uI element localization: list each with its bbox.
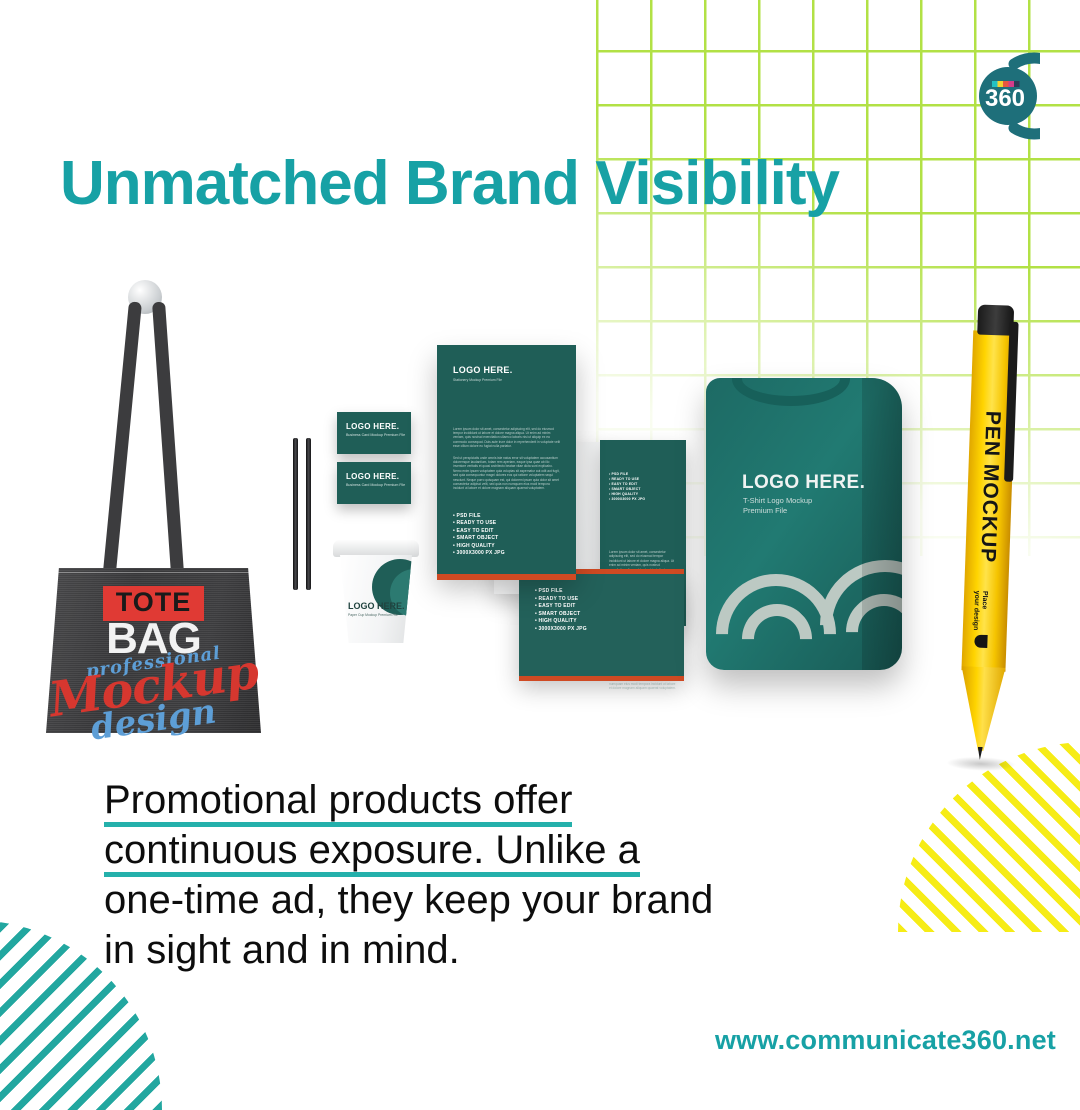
letterhead-subtext: Stationery Mockup Premium File [453,378,576,383]
body-line-3: one-time ad, they keep your brand [104,875,864,925]
pen-mockup: PEN MOCKUP Place your design [952,304,1024,776]
poster-canvas: 360 Unmatched Brand Visibility TOTE BAG … [0,0,1080,1080]
doc-bottom-stripe-gap [575,676,627,681]
business-card-logo: LOGO HERE. [346,422,411,431]
cup-body: LOGO HERE. Paper Cup Mockup Premium File [340,555,412,643]
tote-handle-left [102,301,142,581]
letterhead-feature: SMART OBJECT [453,535,576,542]
website-url[interactable]: www.communicate360.net [715,1025,1056,1056]
tote-handle-right [152,302,185,582]
body-line-4: in sight and in mind. [104,925,864,975]
doc-right-feature-list: PSD FILE READY TO USE EASY TO EDIT SMART… [609,472,686,502]
tote-bag-mockup: TOTE BAG professional Mockup design [36,280,276,730]
tshirt-subtext-line1: T-Shirt Logo Mockup [743,496,812,506]
body-line-2: continuous exposure. Unlike a [104,825,640,875]
tshirt-logo: LOGO HERE. [742,472,865,494]
tshirt-mockup: LOGO HERE. T-Shirt Logo Mockup Premium F… [706,378,902,670]
business-card-logo-2: LOGO HERE. [346,472,411,481]
letterhead-feature-list: PSD FILE READY TO USE EASY TO EDIT SMART… [453,513,576,557]
doc-bottom-feature: PSD FILE [535,588,684,596]
letterhead-stripe-gap [483,574,529,580]
letterhead-feature: EASY TO EDIT [453,528,576,535]
letterhead-logo: LOGO HERE. [453,365,576,375]
cup-lid [333,540,419,557]
doc-bottom-feature-list: PSD FILE READY TO USE EASY TO EDIT SMART… [535,588,684,634]
business-card-subtext-2: Business Card Mockup Premium File [346,483,411,488]
pencil-one [293,438,298,590]
cup-subtext: Paper Cup Mockup Premium File [348,613,398,618]
tshirt-fold-shadow [862,378,902,670]
teal-document-bottom: PSD FILE READY TO USE EASY TO EDIT SMART… [519,574,684,676]
business-card-front: LOGO HERE. Business Card Mockup Premium … [337,412,411,454]
tshirt-subtext: T-Shirt Logo Mockup Premium File [743,496,812,516]
letterhead-feature: HIGH QUALITY [453,543,576,550]
letterhead-feature: READY TO USE [453,520,576,527]
doc-bottom-feature: READY TO USE [535,596,684,604]
page-title: Unmatched Brand Visibility [60,148,839,219]
doc-bottom-feature: HIGH QUALITY [535,618,684,626]
cup-logo: LOGO HERE. [348,601,405,611]
letterhead-paragraph-1: Lorem ipsum dolor sit amet, consectetur … [453,427,561,449]
body-line-1: Promotional products offer [104,775,572,825]
doc-bottom-feature: SMART OBJECT [535,611,684,619]
business-card-subtext: Business Card Mockup Premium File [346,433,411,438]
pen-shadow [946,756,1016,772]
business-card-back: LOGO HERE. Business Card Mockup Premium … [337,462,411,504]
doc-bottom-feature: EASY TO EDIT [535,603,684,611]
letterhead-mockup: LOGO HERE. Stationery Mockup Premium Fil… [437,345,576,574]
logo-text: 360 [985,85,1025,112]
pen-tip [959,666,1006,751]
pencil-two [306,438,311,590]
tshirt-collar [732,378,850,406]
product-mockup-scene: TOTE BAG professional Mockup design LOGO… [0,250,1080,770]
doc-bottom-feature: 3000X3000 PX JPG [535,626,684,634]
tshirt-subtext-line2: Premium File [743,506,812,516]
letterhead-feature: 3000X3000 PX JPG [453,550,576,557]
pen-place-design-text: Place your design [969,590,988,671]
communicate360-logo[interactable]: 360 [952,52,1040,140]
tote-artwork: TOTE BAG professional Mockup design [46,580,261,730]
letterhead-paragraph-2: Sed ut perspiciatis unde omnis iste natu… [453,456,561,491]
doc-right-feature: 3000X3000 PX JPG [609,497,686,502]
coffee-cup-mockup: LOGO HERE. Paper Cup Mockup Premium File [336,540,416,645]
letterhead-feature: PSD FILE [453,513,576,520]
body-copy: Promotional products offer continuous ex… [104,775,864,975]
